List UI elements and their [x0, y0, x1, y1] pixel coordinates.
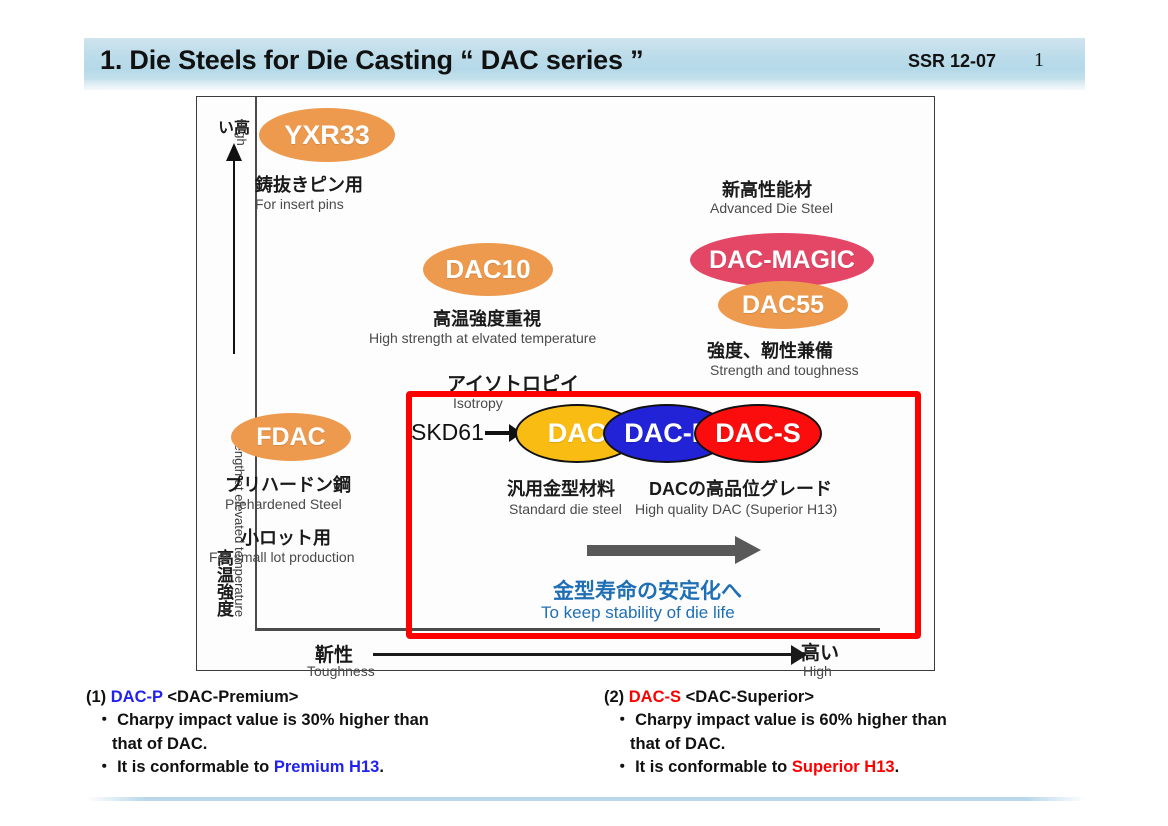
note-left-heading: (1) DAC-P <DAC-Premium>: [86, 686, 586, 709]
note-right-bullet1: ・ Charpy impact value is 60% higher than: [604, 709, 1104, 732]
page-title: 1. Die Steels for Die Casting “ DAC seri…: [100, 45, 643, 76]
note-left-bullet2-highlight: Premium H13: [274, 758, 379, 776]
caption-fdac-jp: プリハードン鋼: [225, 471, 351, 497]
note-right-bullet2-pre: ・ It is conformable to: [614, 758, 792, 776]
bubble-dac-s-label: DAC-S: [715, 418, 801, 449]
note-right-heading: (2) DAC-S <DAC-Superior>: [604, 686, 1104, 709]
bubble-dac-magic-label: DAC-MAGIC: [709, 246, 855, 275]
note-right-bullet2-highlight: Superior H13: [792, 758, 895, 776]
improvement-arrow-icon: [587, 545, 737, 556]
caption-yxr33-jp: 鋳抜きピン用: [255, 171, 363, 197]
note-right-bullet2-post: .: [895, 758, 900, 776]
page-number: 1: [1034, 49, 1044, 72]
x-axis-high-jp: 高い: [801, 638, 839, 665]
y-axis-arrow-icon: [233, 159, 235, 354]
document-code: SSR 12-07: [908, 51, 996, 72]
caption-dac-s-en: High quality DAC (Superior H13): [635, 501, 837, 517]
note-left-bullet2-pre: ・ It is conformable to: [96, 758, 274, 776]
y-axis-title-en: Strength at elevated temperature: [232, 427, 247, 617]
positioning-chart: 高い High 高温強度 Strength at elevated temper…: [196, 96, 935, 671]
note-column-dac-s: (2) DAC-S <DAC-Superior> ・ Charpy impact…: [604, 686, 1104, 780]
x-axis-arrow-icon: [373, 653, 793, 656]
caption-dac-s-jp: DACの高品位グレード: [649, 475, 832, 501]
caption-dac10-jp: 高温強度重視: [433, 305, 541, 331]
note-right-name: DAC-S: [629, 688, 681, 706]
bubble-dac55[interactable]: DAC55: [718, 281, 848, 329]
bubble-dac-label: DAC: [548, 418, 607, 449]
slide-header-banner: 1. Die Steels for Die Casting “ DAC seri…: [84, 38, 1085, 90]
x-axis-title-en: Toughness: [307, 663, 375, 679]
caption-dacmagic-jp: 新高性能材: [722, 176, 812, 202]
note-column-dac-p: (1) DAC-P <DAC-Premium> ・ Charpy impact …: [86, 686, 586, 780]
note-left-name: DAC-P: [111, 688, 163, 706]
note-right-bullet1-cont: that of DAC.: [604, 733, 1104, 756]
caption-dac55-jp: 強度、靭性兼備: [707, 337, 833, 363]
caption-fdac2-en: For small lot production: [209, 549, 355, 565]
bubble-dac10[interactable]: DAC10: [423, 243, 553, 296]
note-left-bullet1-cont: that of DAC.: [86, 733, 586, 756]
stability-label-jp: 金型寿命の安定化へ: [553, 575, 742, 605]
bubble-dac55-label: DAC55: [742, 291, 824, 320]
caption-dac-jp: 汎用金型材料: [507, 475, 615, 501]
bubble-dac-magic[interactable]: DAC-MAGIC: [690, 233, 874, 287]
caption-dac-en: Standard die steel: [509, 501, 622, 517]
caption-dac10-en: High strength at elvated temperature: [369, 330, 596, 346]
bubble-fdac[interactable]: FDAC: [231, 413, 351, 461]
note-right-number: (2): [604, 688, 624, 706]
stability-label-en: To keep stability of die life: [541, 603, 735, 623]
note-right-bullet2: ・ It is conformable to Superior H13.: [604, 756, 1104, 779]
bubble-yxr33[interactable]: YXR33: [259, 108, 395, 162]
y-axis-high-en: High: [235, 119, 248, 146]
caption-fdac-en: Prehardened Steel: [225, 496, 342, 512]
x-axis-high-en: High: [803, 663, 832, 679]
caption-yxr33-en: For insert pins: [255, 196, 344, 212]
bubble-fdac-label: FDAC: [256, 423, 325, 452]
note-left-bullet1: ・ Charpy impact value is 30% higher than: [86, 709, 586, 732]
footer-divider: [86, 797, 1086, 801]
caption-fdac2-jp: 小ロット用: [241, 524, 331, 550]
caption-dacmagic-en: Advanced Die Steel: [710, 200, 833, 216]
bubble-dac-s[interactable]: DAC-S: [694, 404, 822, 463]
caption-dac55-en: Strength and toughness: [710, 362, 859, 378]
bubble-dac10-label: DAC10: [445, 254, 530, 285]
note-left-expansion: <DAC-Premium>: [167, 688, 298, 706]
bubble-yxr33-label: YXR33: [284, 120, 370, 151]
note-left-bullet2: ・ It is conformable to Premium H13.: [86, 756, 586, 779]
note-left-bullet2-post: .: [379, 758, 384, 776]
note-right-expansion: <DAC-Superior>: [686, 688, 814, 706]
note-left-number: (1): [86, 688, 106, 706]
